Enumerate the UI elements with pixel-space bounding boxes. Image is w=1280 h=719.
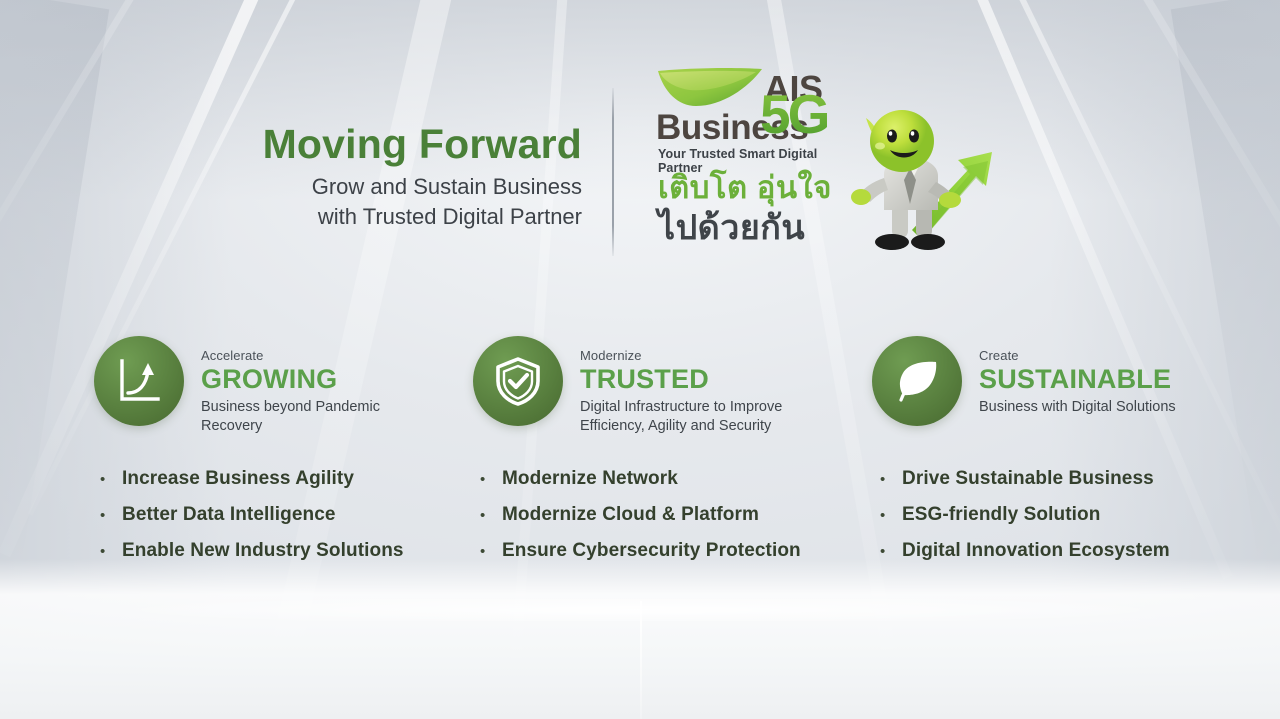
pillar-eyebrow: Modernize [580,348,813,363]
bullet-label: Digital Innovation Ecosystem [902,540,1170,563]
headline-block: Moving Forward Grow and Sustain Business… [0,122,582,231]
thai-headline-line-2: ไปด้วยกัน [658,200,805,254]
list-item: • Better Data Intelligence [100,504,460,527]
bullet-marker-icon: • [480,470,502,487]
leaf-icon [891,355,943,407]
pillar-growing[interactable]: Accelerate GROWING Business beyond Pande… [94,336,424,437]
list-item: • Digital Innovation Ecosystem [880,540,1240,563]
bullet-marker-icon: • [100,506,122,523]
list-item: • Increase Business Agility [100,468,460,491]
list-item: • Modernize Network [480,468,840,491]
bullet-column-growing: • Increase Business Agility • Better Dat… [100,468,460,575]
pillar-badge-growing [94,336,184,426]
ais-swoosh-icon [656,66,764,112]
pillar-eyebrow: Create [979,348,1176,363]
list-item: • Enable New Industry Solutions [100,540,460,563]
page-subtitle-line-1: Grow and Sustain Business [0,172,582,201]
pillar-text-trusted: Modernize TRUSTED Digital Infrastructure… [580,336,813,437]
list-item: • Drive Sustainable Business [880,468,1240,491]
bullet-label: Ensure Cybersecurity Protection [502,540,801,563]
page-subtitle-line-2: with Trusted Digital Partner [0,202,582,231]
shield-check-icon [492,355,544,407]
pillar-title: SUSTAINABLE [979,364,1176,395]
bullet-marker-icon: • [880,542,902,559]
bullet-marker-icon: • [100,470,122,487]
bullet-marker-icon: • [880,470,902,487]
list-item: • Modernize Cloud & Platform [480,504,840,527]
list-item: • ESG-friendly Solution [880,504,1240,527]
bullet-label: Better Data Intelligence [122,504,336,527]
pillar-eyebrow: Accelerate [201,348,424,363]
background-floor-seam [640,601,642,719]
bullet-marker-icon: • [100,542,122,559]
pillar-badge-sustainable [872,336,962,426]
header-divider [612,88,614,256]
pillar-badge-trusted [473,336,563,426]
bullet-marker-icon: • [480,506,502,523]
bullet-label: Drive Sustainable Business [902,468,1154,491]
pillar-sustainable[interactable]: Create SUSTAINABLE Business with Digital… [872,336,1202,426]
bullet-column-trusted: • Modernize Network • Modernize Cloud & … [480,468,840,575]
logo-5g-text: 5G [760,82,827,146]
bullet-label: ESG-friendly Solution [902,504,1100,527]
pillar-title: TRUSTED [580,364,813,395]
pillar-description: Digital Infrastructure to Improve Effici… [580,398,813,437]
page-subtitle: Grow and Sustain Business with Trusted D… [0,172,582,231]
bullet-marker-icon: • [480,542,502,559]
list-item: • Ensure Cybersecurity Protection [480,540,840,563]
pillar-title: GROWING [201,364,424,395]
growth-chart-icon [113,355,165,407]
pillar-text-growing: Accelerate GROWING Business beyond Pande… [201,336,424,437]
bullet-label: Modernize Cloud & Platform [502,504,759,527]
bullet-label: Enable New Industry Solutions [122,540,404,563]
pillar-description: Business beyond Pandemic Recovery [201,398,424,437]
pillars-section: Accelerate GROWING Business beyond Pande… [0,336,1280,446]
pillar-trusted[interactable]: Modernize TRUSTED Digital Infrastructure… [473,336,813,437]
bullet-marker-icon: • [880,506,902,523]
ais-business-logo: AIS Business Your Trusted Smart Digital … [652,62,862,116]
header-section: Moving Forward Grow and Sustain Business… [0,0,1280,290]
pillar-description: Business with Digital Solutions [979,398,1176,417]
bullet-label: Increase Business Agility [122,468,354,491]
page-title: Moving Forward [0,122,582,166]
bullet-label: Modernize Network [502,468,678,491]
aunjai-mascot-icon [840,108,1020,258]
pillar-text-sustainable: Create SUSTAINABLE Business with Digital… [979,336,1176,417]
bullet-column-sustainable: • Drive Sustainable Business • ESG-frien… [880,468,1240,575]
